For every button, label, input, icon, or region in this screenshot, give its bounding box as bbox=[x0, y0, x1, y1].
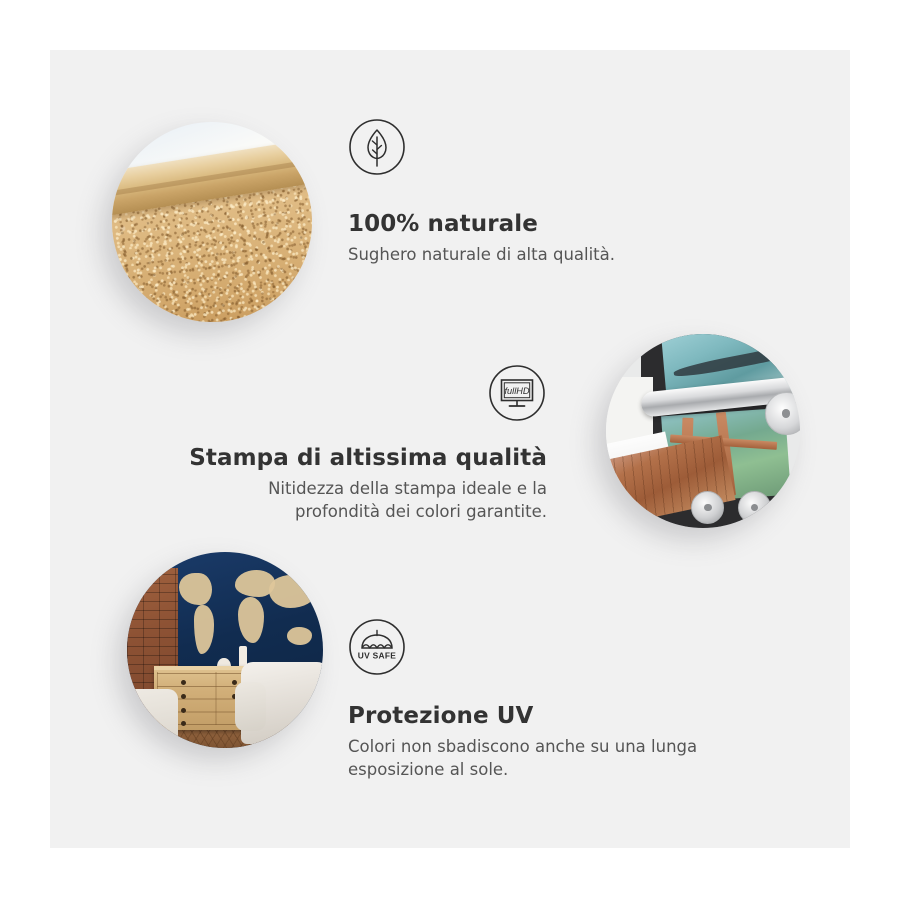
feature-uv-description: Colori non sbadiscono anche su una lunga… bbox=[348, 731, 778, 782]
feature-print-description: Nitidezza della stampa ideale e la profo… bbox=[175, 473, 547, 524]
feature-uv-protection: UV SAFE Protezione UV Colori non sbadisc… bbox=[348, 618, 778, 782]
drawer-knob bbox=[181, 721, 186, 726]
room-photo-armchair-right bbox=[241, 662, 323, 744]
print-photo-roller-disc bbox=[765, 392, 800, 435]
feature-print-title: Stampa di altissima qualità bbox=[175, 444, 547, 473]
room-photo-armchair-left bbox=[127, 689, 178, 748]
feature-print-description-line1: Nitidezza della stampa ideale e la bbox=[268, 479, 547, 498]
infographic-canvas: 100% naturale Sughero naturale di alta q… bbox=[0, 0, 900, 900]
feature-natural-title: 100% naturale bbox=[348, 210, 768, 239]
room-photo-world-map bbox=[174, 564, 323, 674]
fullhd-icon-label: fullHD bbox=[504, 386, 529, 396]
printing-machine-photo bbox=[606, 334, 800, 528]
uv-safe-umbrella-icon: UV SAFE bbox=[348, 618, 778, 676]
feature-print-description-line2: profondità dei colori garantite. bbox=[295, 502, 547, 521]
map-continent bbox=[179, 573, 213, 606]
map-continent bbox=[287, 627, 311, 645]
feature-uv-title: Protezione UV bbox=[348, 702, 778, 731]
print-photo-roller-disc bbox=[738, 491, 771, 524]
feature-print-quality: fullHD Stampa di altissima qualità Nitid… bbox=[175, 364, 547, 524]
feature-uv-description-line2: esposizione al sole. bbox=[348, 760, 508, 779]
fullhd-monitor-icon: fullHD bbox=[175, 364, 547, 422]
leaf-icon bbox=[348, 118, 768, 176]
feature-natural: 100% naturale Sughero naturale di alta q… bbox=[348, 118, 768, 266]
feature-natural-description: Sughero naturale di alta qualità. bbox=[348, 239, 768, 266]
map-continent bbox=[269, 575, 315, 608]
feature-uv-description-line1: Colori non sbadiscono anche su una lunga bbox=[348, 737, 697, 756]
map-continent bbox=[238, 597, 264, 643]
interior-world-map-photo bbox=[127, 552, 323, 748]
cork-board-closeup-photo bbox=[112, 122, 312, 322]
uv-safe-icon-label: UV SAFE bbox=[358, 651, 397, 661]
map-continent bbox=[194, 605, 214, 653]
